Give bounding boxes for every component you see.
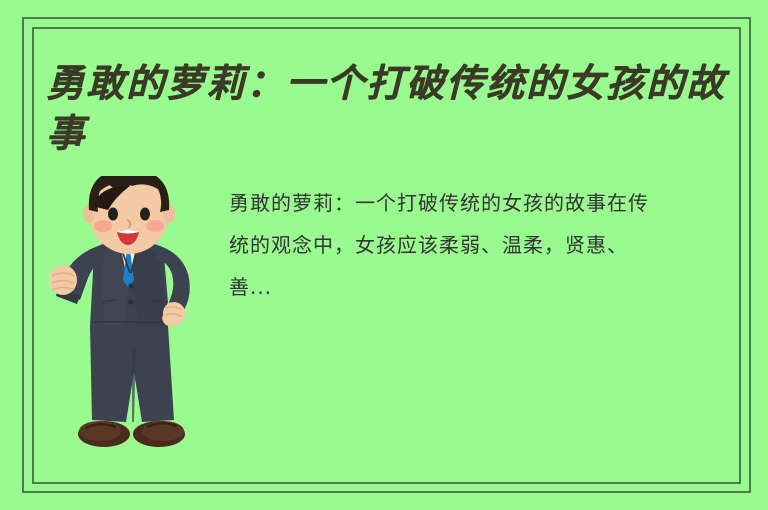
article-excerpt: 勇敢的萝莉：一个打破传统的女孩的故事在传统的观念中，女孩应该柔弱、温柔，贤惠、善… <box>229 182 659 308</box>
page-title: 勇敢的萝莉：一个打破传统的女孩的故事 <box>46 58 740 158</box>
illustration-cartoon-businessman <box>46 176 211 486</box>
article-card: 勇敢的萝莉：一个打破传统的女孩的故事 <box>0 0 768 510</box>
businessman-icon <box>46 176 211 486</box>
content-row: 勇敢的萝莉：一个打破传统的女孩的故事在传统的观念中，女孩应该柔弱、温柔，贤惠、善… <box>46 176 740 486</box>
